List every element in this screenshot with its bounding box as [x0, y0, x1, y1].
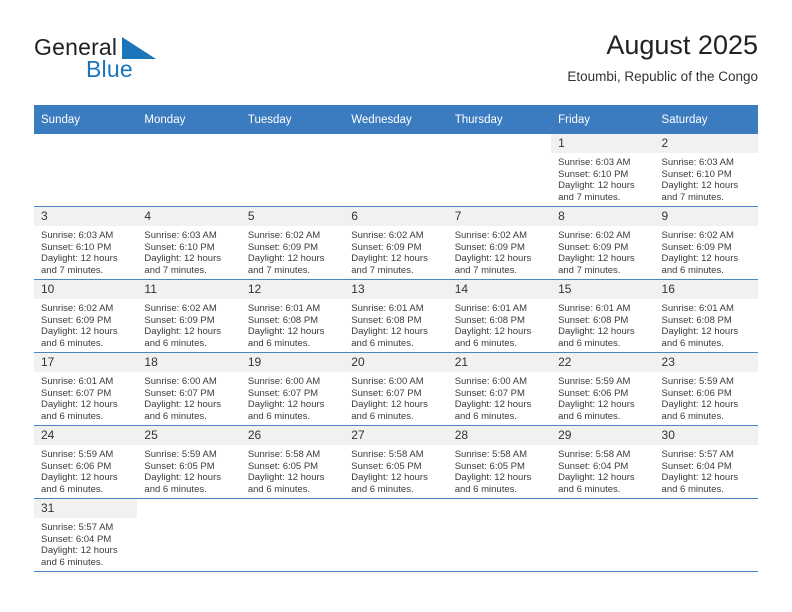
day-number: 28: [448, 426, 551, 445]
day-number: [34, 134, 137, 153]
calendar-cell: [137, 499, 240, 572]
sunrise-text: Sunrise: 6:02 AM: [41, 303, 131, 315]
calendar-cell: [344, 134, 447, 207]
daylight-text: Daylight: 12 hours: [351, 399, 441, 411]
day-number: 5: [241, 207, 344, 226]
calendar-cell: 14Sunrise: 6:01 AMSunset: 6:08 PMDayligh…: [448, 280, 551, 353]
day-details: [137, 153, 240, 157]
daylight-text: and 6 minutes.: [455, 411, 545, 423]
calendar-cell: 18Sunrise: 6:00 AMSunset: 6:07 PMDayligh…: [137, 353, 240, 426]
calendar-day[interactable]: 28Sunrise: 5:58 AMSunset: 6:05 PMDayligh…: [448, 426, 551, 498]
day-number: 13: [344, 280, 447, 299]
sunset-text: Sunset: 6:04 PM: [41, 534, 131, 546]
day-number: 27: [344, 426, 447, 445]
sunrise-text: Sunrise: 6:01 AM: [455, 303, 545, 315]
sunrise-text: Sunrise: 5:59 AM: [144, 449, 234, 461]
daylight-text: Daylight: 12 hours: [558, 399, 648, 411]
sunset-text: Sunset: 6:10 PM: [41, 242, 131, 254]
sunrise-text: Sunrise: 5:57 AM: [662, 449, 752, 461]
calendar-cell: [448, 499, 551, 572]
title-block: August 2025 Etoumbi, Republic of the Con…: [567, 28, 758, 87]
day-details: [241, 518, 344, 522]
sunrise-text: Sunrise: 5:58 AM: [455, 449, 545, 461]
daylight-text: and 6 minutes.: [662, 265, 752, 277]
day-details: [344, 153, 447, 157]
daylight-text: Daylight: 12 hours: [455, 253, 545, 265]
sunset-text: Sunset: 6:07 PM: [144, 388, 234, 400]
calendar-day[interactable]: 10Sunrise: 6:02 AMSunset: 6:09 PMDayligh…: [34, 280, 137, 352]
calendar-cell: 4Sunrise: 6:03 AMSunset: 6:10 PMDaylight…: [137, 207, 240, 280]
day-number: 31: [34, 499, 137, 518]
calendar-table: SundayMondayTuesdayWednesdayThursdayFrid…: [34, 105, 758, 572]
day-details: Sunrise: 6:02 AMSunset: 6:09 PMDaylight:…: [34, 299, 137, 349]
sunrise-text: Sunrise: 6:02 AM: [144, 303, 234, 315]
daylight-text: Daylight: 12 hours: [41, 399, 131, 411]
day-details: Sunrise: 6:00 AMSunset: 6:07 PMDaylight:…: [448, 372, 551, 422]
daylight-text: and 6 minutes.: [144, 484, 234, 496]
day-number: 12: [241, 280, 344, 299]
day-number: 23: [655, 353, 758, 372]
day-number: 11: [137, 280, 240, 299]
day-details: Sunrise: 6:02 AMSunset: 6:09 PMDaylight:…: [344, 226, 447, 276]
day-number: 4: [137, 207, 240, 226]
day-details: Sunrise: 6:01 AMSunset: 6:08 PMDaylight:…: [241, 299, 344, 349]
calendar-cell: 27Sunrise: 5:58 AMSunset: 6:05 PMDayligh…: [344, 426, 447, 499]
daylight-text: Daylight: 12 hours: [351, 472, 441, 484]
calendar-day-empty: [551, 499, 654, 571]
calendar-week-row: 10Sunrise: 6:02 AMSunset: 6:09 PMDayligh…: [34, 280, 758, 353]
day-details: Sunrise: 6:01 AMSunset: 6:08 PMDaylight:…: [551, 299, 654, 349]
daylight-text: and 6 minutes.: [558, 338, 648, 350]
daylight-text: Daylight: 12 hours: [558, 472, 648, 484]
sunrise-text: Sunrise: 6:02 AM: [455, 230, 545, 242]
sunrise-text: Sunrise: 6:03 AM: [662, 157, 752, 169]
weekday-header-saturday: Saturday: [655, 105, 758, 134]
day-number: [448, 499, 551, 518]
sunrise-text: Sunrise: 6:02 AM: [558, 230, 648, 242]
sunrise-text: Sunrise: 5:58 AM: [558, 449, 648, 461]
calendar-day-empty: [137, 499, 240, 571]
sunset-text: Sunset: 6:06 PM: [662, 388, 752, 400]
calendar-day-empty: [241, 499, 344, 571]
calendar-day[interactable]: 15Sunrise: 6:01 AMSunset: 6:08 PMDayligh…: [551, 280, 654, 352]
daylight-text: and 7 minutes.: [248, 265, 338, 277]
sunset-text: Sunset: 6:06 PM: [41, 461, 131, 473]
day-number: 19: [241, 353, 344, 372]
day-details: Sunrise: 6:01 AMSunset: 6:07 PMDaylight:…: [34, 372, 137, 422]
calendar-week-row: 17Sunrise: 6:01 AMSunset: 6:07 PMDayligh…: [34, 353, 758, 426]
day-number: 1: [551, 134, 654, 153]
daylight-text: Daylight: 12 hours: [144, 399, 234, 411]
calendar-day[interactable]: 5Sunrise: 6:02 AMSunset: 6:09 PMDaylight…: [241, 207, 344, 279]
sunset-text: Sunset: 6:09 PM: [144, 315, 234, 327]
calendar-day-empty: [448, 499, 551, 571]
daylight-text: and 7 minutes.: [558, 265, 648, 277]
daylight-text: and 6 minutes.: [41, 484, 131, 496]
sunrise-text: Sunrise: 6:01 AM: [41, 376, 131, 388]
day-details: Sunrise: 5:58 AMSunset: 6:05 PMDaylight:…: [448, 445, 551, 495]
sunrise-text: Sunrise: 6:00 AM: [351, 376, 441, 388]
calendar-day[interactable]: 9Sunrise: 6:02 AMSunset: 6:09 PMDaylight…: [655, 207, 758, 279]
daylight-text: Daylight: 12 hours: [144, 326, 234, 338]
calendar-day[interactable]: 7Sunrise: 6:02 AMSunset: 6:09 PMDaylight…: [448, 207, 551, 279]
daylight-text: and 7 minutes.: [662, 192, 752, 204]
weekday-header-row: SundayMondayTuesdayWednesdayThursdayFrid…: [34, 105, 758, 134]
sunset-text: Sunset: 6:10 PM: [662, 169, 752, 181]
day-number: 16: [655, 280, 758, 299]
sunset-text: Sunset: 6:09 PM: [558, 242, 648, 254]
sunrise-text: Sunrise: 6:01 AM: [662, 303, 752, 315]
calendar-cell: 3Sunrise: 6:03 AMSunset: 6:10 PMDaylight…: [34, 207, 137, 280]
daylight-text: and 6 minutes.: [351, 338, 441, 350]
daylight-text: Daylight: 12 hours: [248, 399, 338, 411]
calendar-cell: 24Sunrise: 5:59 AMSunset: 6:06 PMDayligh…: [34, 426, 137, 499]
calendar-day[interactable]: 12Sunrise: 6:01 AMSunset: 6:08 PMDayligh…: [241, 280, 344, 352]
sunrise-text: Sunrise: 6:00 AM: [144, 376, 234, 388]
daylight-text: and 6 minutes.: [558, 484, 648, 496]
day-details: Sunrise: 5:59 AMSunset: 6:05 PMDaylight:…: [137, 445, 240, 495]
day-details: [655, 518, 758, 522]
calendar-day-empty: [137, 134, 240, 206]
day-number: 24: [34, 426, 137, 445]
day-number: 25: [137, 426, 240, 445]
daylight-text: and 6 minutes.: [41, 557, 131, 569]
calendar-day-empty: [241, 134, 344, 206]
calendar-cell: 1Sunrise: 6:03 AMSunset: 6:10 PMDaylight…: [551, 134, 654, 207]
daylight-text: Daylight: 12 hours: [455, 399, 545, 411]
sunset-text: Sunset: 6:08 PM: [558, 315, 648, 327]
daylight-text: and 7 minutes.: [455, 265, 545, 277]
calendar-week-row: 24Sunrise: 5:59 AMSunset: 6:06 PMDayligh…: [34, 426, 758, 499]
daylight-text: Daylight: 12 hours: [662, 253, 752, 265]
sunset-text: Sunset: 6:04 PM: [662, 461, 752, 473]
calendar-day[interactable]: 22Sunrise: 5:59 AMSunset: 6:06 PMDayligh…: [551, 353, 654, 425]
daylight-text: and 6 minutes.: [455, 484, 545, 496]
sunset-text: Sunset: 6:05 PM: [248, 461, 338, 473]
calendar-cell: [34, 134, 137, 207]
weekday-header-wednesday: Wednesday: [344, 105, 447, 134]
daylight-text: and 6 minutes.: [662, 338, 752, 350]
calendar-day[interactable]: 13Sunrise: 6:01 AMSunset: 6:08 PMDayligh…: [344, 280, 447, 352]
sunrise-text: Sunrise: 6:02 AM: [248, 230, 338, 242]
calendar-cell: 20Sunrise: 6:00 AMSunset: 6:07 PMDayligh…: [344, 353, 447, 426]
day-details: Sunrise: 6:02 AMSunset: 6:09 PMDaylight:…: [655, 226, 758, 276]
calendar-cell: 30Sunrise: 5:57 AMSunset: 6:04 PMDayligh…: [655, 426, 758, 499]
calendar-cell: 29Sunrise: 5:58 AMSunset: 6:04 PMDayligh…: [551, 426, 654, 499]
day-number: 17: [34, 353, 137, 372]
day-number: [344, 134, 447, 153]
calendar-cell: 5Sunrise: 6:02 AMSunset: 6:09 PMDaylight…: [241, 207, 344, 280]
calendar-day[interactable]: 21Sunrise: 6:00 AMSunset: 6:07 PMDayligh…: [448, 353, 551, 425]
calendar-day-empty: [34, 134, 137, 206]
calendar-cell: [551, 499, 654, 572]
sunrise-text: Sunrise: 5:59 AM: [662, 376, 752, 388]
daylight-text: and 6 minutes.: [248, 411, 338, 423]
calendar-day[interactable]: 14Sunrise: 6:01 AMSunset: 6:08 PMDayligh…: [448, 280, 551, 352]
day-details: Sunrise: 6:02 AMSunset: 6:09 PMDaylight:…: [241, 226, 344, 276]
weekday-header-friday: Friday: [551, 105, 654, 134]
sunrise-text: Sunrise: 5:59 AM: [558, 376, 648, 388]
calendar-day[interactable]: 23Sunrise: 5:59 AMSunset: 6:06 PMDayligh…: [655, 353, 758, 425]
day-details: Sunrise: 5:59 AMSunset: 6:06 PMDaylight:…: [34, 445, 137, 495]
day-number: [241, 499, 344, 518]
day-details: [137, 518, 240, 522]
sunset-text: Sunset: 6:05 PM: [144, 461, 234, 473]
daylight-text: Daylight: 12 hours: [248, 326, 338, 338]
calendar-header-row: SundayMondayTuesdayWednesdayThursdayFrid…: [34, 105, 758, 134]
daylight-text: and 6 minutes.: [248, 484, 338, 496]
sunset-text: Sunset: 6:09 PM: [41, 315, 131, 327]
calendar-cell: [137, 134, 240, 207]
day-details: [551, 518, 654, 522]
sunrise-text: Sunrise: 5:58 AM: [248, 449, 338, 461]
day-number: 14: [448, 280, 551, 299]
day-details: Sunrise: 6:02 AMSunset: 6:09 PMDaylight:…: [551, 226, 654, 276]
page-subtitle: Etoumbi, Republic of the Congo: [567, 67, 758, 87]
calendar-cell: 6Sunrise: 6:02 AMSunset: 6:09 PMDaylight…: [344, 207, 447, 280]
calendar-day-empty: [448, 134, 551, 206]
day-details: Sunrise: 6:00 AMSunset: 6:07 PMDaylight:…: [137, 372, 240, 422]
day-number: [137, 499, 240, 518]
sunset-text: Sunset: 6:09 PM: [351, 242, 441, 254]
day-number: [655, 499, 758, 518]
day-details: Sunrise: 6:02 AMSunset: 6:09 PMDaylight:…: [137, 299, 240, 349]
sunset-text: Sunset: 6:04 PM: [558, 461, 648, 473]
day-number: 29: [551, 426, 654, 445]
daylight-text: and 6 minutes.: [455, 338, 545, 350]
calendar-cell: 11Sunrise: 6:02 AMSunset: 6:09 PMDayligh…: [137, 280, 240, 353]
daylight-text: Daylight: 12 hours: [248, 253, 338, 265]
sunset-text: Sunset: 6:07 PM: [41, 388, 131, 400]
day-details: Sunrise: 5:59 AMSunset: 6:06 PMDaylight:…: [551, 372, 654, 422]
calendar-day[interactable]: 1Sunrise: 6:03 AMSunset: 6:10 PMDaylight…: [551, 134, 654, 206]
day-details: Sunrise: 5:58 AMSunset: 6:05 PMDaylight:…: [344, 445, 447, 495]
daylight-text: Daylight: 12 hours: [144, 253, 234, 265]
calendar-cell: 26Sunrise: 5:58 AMSunset: 6:05 PMDayligh…: [241, 426, 344, 499]
day-number: 2: [655, 134, 758, 153]
day-number: 8: [551, 207, 654, 226]
calendar-cell: [448, 134, 551, 207]
day-number: 22: [551, 353, 654, 372]
calendar-day-empty: [344, 499, 447, 571]
sunset-text: Sunset: 6:05 PM: [455, 461, 545, 473]
sunset-text: Sunset: 6:05 PM: [351, 461, 441, 473]
daylight-text: and 6 minutes.: [41, 338, 131, 350]
daylight-text: and 6 minutes.: [144, 338, 234, 350]
day-number: 20: [344, 353, 447, 372]
daylight-text: and 6 minutes.: [144, 411, 234, 423]
calendar-day[interactable]: 27Sunrise: 5:58 AMSunset: 6:05 PMDayligh…: [344, 426, 447, 498]
day-details: Sunrise: 5:57 AMSunset: 6:04 PMDaylight:…: [34, 518, 137, 568]
sunrise-text: Sunrise: 5:59 AM: [41, 449, 131, 461]
sunrise-text: Sunrise: 6:02 AM: [351, 230, 441, 242]
day-details: Sunrise: 6:00 AMSunset: 6:07 PMDaylight:…: [241, 372, 344, 422]
day-number: 9: [655, 207, 758, 226]
page-header: General Blue August 2025 Etoumbi, Republ…: [34, 28, 758, 100]
daylight-text: and 7 minutes.: [351, 265, 441, 277]
page-title: August 2025: [567, 28, 758, 62]
sunrise-text: Sunrise: 6:03 AM: [41, 230, 131, 242]
day-number: 15: [551, 280, 654, 299]
daylight-text: Daylight: 12 hours: [455, 326, 545, 338]
daylight-text: and 6 minutes.: [558, 411, 648, 423]
calendar-cell: [241, 134, 344, 207]
daylight-text: and 7 minutes.: [144, 265, 234, 277]
daylight-text: and 6 minutes.: [351, 484, 441, 496]
sunset-text: Sunset: 6:07 PM: [455, 388, 545, 400]
daylight-text: Daylight: 12 hours: [662, 326, 752, 338]
brand-logo[interactable]: General Blue: [34, 34, 264, 96]
calendar-day[interactable]: 4Sunrise: 6:03 AMSunset: 6:10 PMDaylight…: [137, 207, 240, 279]
sunrise-text: Sunrise: 6:00 AM: [248, 376, 338, 388]
day-number: [137, 134, 240, 153]
calendar-cell: 17Sunrise: 6:01 AMSunset: 6:07 PMDayligh…: [34, 353, 137, 426]
sunrise-text: Sunrise: 5:58 AM: [351, 449, 441, 461]
sunset-text: Sunset: 6:09 PM: [662, 242, 752, 254]
calendar-day[interactable]: 25Sunrise: 5:59 AMSunset: 6:05 PMDayligh…: [137, 426, 240, 498]
calendar-day[interactable]: 3Sunrise: 6:03 AMSunset: 6:10 PMDaylight…: [34, 207, 137, 279]
daylight-text: Daylight: 12 hours: [455, 472, 545, 484]
calendar-week-row: 1Sunrise: 6:03 AMSunset: 6:10 PMDaylight…: [34, 134, 758, 207]
calendar-cell: 25Sunrise: 5:59 AMSunset: 6:05 PMDayligh…: [137, 426, 240, 499]
day-details: Sunrise: 5:59 AMSunset: 6:06 PMDaylight:…: [655, 372, 758, 422]
day-number: 3: [34, 207, 137, 226]
calendar-day[interactable]: 30Sunrise: 5:57 AMSunset: 6:04 PMDayligh…: [655, 426, 758, 498]
calendar-day[interactable]: 20Sunrise: 6:00 AMSunset: 6:07 PMDayligh…: [344, 353, 447, 425]
calendar-cell: 12Sunrise: 6:01 AMSunset: 6:08 PMDayligh…: [241, 280, 344, 353]
day-details: Sunrise: 6:01 AMSunset: 6:08 PMDaylight:…: [655, 299, 758, 349]
calendar-cell: [655, 499, 758, 572]
weekday-header-thursday: Thursday: [448, 105, 551, 134]
calendar-cell: 9Sunrise: 6:02 AMSunset: 6:09 PMDaylight…: [655, 207, 758, 280]
calendar-cell: 15Sunrise: 6:01 AMSunset: 6:08 PMDayligh…: [551, 280, 654, 353]
day-number: 6: [344, 207, 447, 226]
sunset-text: Sunset: 6:09 PM: [248, 242, 338, 254]
daylight-text: and 6 minutes.: [41, 411, 131, 423]
weekday-header-tuesday: Tuesday: [241, 105, 344, 134]
sunset-text: Sunset: 6:08 PM: [455, 315, 545, 327]
sunrise-text: Sunrise: 6:01 AM: [558, 303, 648, 315]
brand-name-blue: Blue: [86, 56, 133, 83]
calendar-day[interactable]: 17Sunrise: 6:01 AMSunset: 6:07 PMDayligh…: [34, 353, 137, 425]
day-details: [344, 518, 447, 522]
calendar-cell: [344, 499, 447, 572]
sunrise-text: Sunrise: 6:03 AM: [558, 157, 648, 169]
daylight-text: and 6 minutes.: [351, 411, 441, 423]
daylight-text: and 7 minutes.: [41, 265, 131, 277]
day-details: [448, 153, 551, 157]
calendar-cell: 21Sunrise: 6:00 AMSunset: 6:07 PMDayligh…: [448, 353, 551, 426]
calendar-cell: 16Sunrise: 6:01 AMSunset: 6:08 PMDayligh…: [655, 280, 758, 353]
day-details: [34, 153, 137, 157]
daylight-text: Daylight: 12 hours: [558, 180, 648, 192]
calendar-day[interactable]: 2Sunrise: 6:03 AMSunset: 6:10 PMDaylight…: [655, 134, 758, 206]
sunset-text: Sunset: 6:08 PM: [662, 315, 752, 327]
sunset-text: Sunset: 6:10 PM: [144, 242, 234, 254]
day-details: Sunrise: 5:58 AMSunset: 6:05 PMDaylight:…: [241, 445, 344, 495]
weekday-header-sunday: Sunday: [34, 105, 137, 134]
day-number: [344, 499, 447, 518]
calendar-cell: 19Sunrise: 6:00 AMSunset: 6:07 PMDayligh…: [241, 353, 344, 426]
calendar-page: General Blue August 2025 Etoumbi, Republ…: [0, 0, 792, 612]
calendar-day[interactable]: 18Sunrise: 6:00 AMSunset: 6:07 PMDayligh…: [137, 353, 240, 425]
day-details: Sunrise: 5:58 AMSunset: 6:04 PMDaylight:…: [551, 445, 654, 495]
sunrise-text: Sunrise: 6:03 AM: [144, 230, 234, 242]
calendar-day[interactable]: 6Sunrise: 6:02 AMSunset: 6:09 PMDaylight…: [344, 207, 447, 279]
day-number: 7: [448, 207, 551, 226]
calendar-day[interactable]: 24Sunrise: 5:59 AMSunset: 6:06 PMDayligh…: [34, 426, 137, 498]
calendar-cell: 2Sunrise: 6:03 AMSunset: 6:10 PMDaylight…: [655, 134, 758, 207]
day-details: Sunrise: 6:01 AMSunset: 6:08 PMDaylight:…: [344, 299, 447, 349]
calendar-cell: 7Sunrise: 6:02 AMSunset: 6:09 PMDaylight…: [448, 207, 551, 280]
day-number: 18: [137, 353, 240, 372]
daylight-text: and 6 minutes.: [248, 338, 338, 350]
sunset-text: Sunset: 6:06 PM: [558, 388, 648, 400]
calendar-cell: 13Sunrise: 6:01 AMSunset: 6:08 PMDayligh…: [344, 280, 447, 353]
calendar-day[interactable]: 31Sunrise: 5:57 AMSunset: 6:04 PMDayligh…: [34, 499, 137, 571]
sunrise-text: Sunrise: 6:02 AM: [662, 230, 752, 242]
day-details: Sunrise: 6:03 AMSunset: 6:10 PMDaylight:…: [655, 153, 758, 203]
daylight-text: and 6 minutes.: [662, 484, 752, 496]
calendar-day[interactable]: 29Sunrise: 5:58 AMSunset: 6:04 PMDayligh…: [551, 426, 654, 498]
calendar-day[interactable]: 8Sunrise: 6:02 AMSunset: 6:09 PMDaylight…: [551, 207, 654, 279]
sunset-text: Sunset: 6:10 PM: [558, 169, 648, 181]
calendar-day[interactable]: 26Sunrise: 5:58 AMSunset: 6:05 PMDayligh…: [241, 426, 344, 498]
day-number: 26: [241, 426, 344, 445]
day-number: [551, 499, 654, 518]
daylight-text: Daylight: 12 hours: [41, 545, 131, 557]
day-details: Sunrise: 6:03 AMSunset: 6:10 PMDaylight:…: [551, 153, 654, 203]
day-details: Sunrise: 5:57 AMSunset: 6:04 PMDaylight:…: [655, 445, 758, 495]
daylight-text: Daylight: 12 hours: [144, 472, 234, 484]
daylight-text: Daylight: 12 hours: [248, 472, 338, 484]
calendar-cell: [241, 499, 344, 572]
sunrise-text: Sunrise: 6:00 AM: [455, 376, 545, 388]
calendar-day[interactable]: 11Sunrise: 6:02 AMSunset: 6:09 PMDayligh…: [137, 280, 240, 352]
calendar-cell: 8Sunrise: 6:02 AMSunset: 6:09 PMDaylight…: [551, 207, 654, 280]
sunset-text: Sunset: 6:07 PM: [351, 388, 441, 400]
day-details: [448, 518, 551, 522]
day-details: Sunrise: 6:02 AMSunset: 6:09 PMDaylight:…: [448, 226, 551, 276]
calendar-cell: 10Sunrise: 6:02 AMSunset: 6:09 PMDayligh…: [34, 280, 137, 353]
daylight-text: Daylight: 12 hours: [351, 326, 441, 338]
daylight-text: Daylight: 12 hours: [662, 399, 752, 411]
sunrise-text: Sunrise: 5:57 AM: [41, 522, 131, 534]
daylight-text: Daylight: 12 hours: [558, 253, 648, 265]
day-number: [448, 134, 551, 153]
calendar-body: 1Sunrise: 6:03 AMSunset: 6:10 PMDaylight…: [34, 134, 758, 572]
calendar-day[interactable]: 16Sunrise: 6:01 AMSunset: 6:08 PMDayligh…: [655, 280, 758, 352]
sunset-text: Sunset: 6:08 PM: [351, 315, 441, 327]
daylight-text: Daylight: 12 hours: [351, 253, 441, 265]
calendar-cell: 23Sunrise: 5:59 AMSunset: 6:06 PMDayligh…: [655, 353, 758, 426]
calendar-day[interactable]: 19Sunrise: 6:00 AMSunset: 6:07 PMDayligh…: [241, 353, 344, 425]
calendar-day-empty: [655, 499, 758, 571]
daylight-text: and 7 minutes.: [558, 192, 648, 204]
sunset-text: Sunset: 6:09 PM: [455, 242, 545, 254]
day-details: Sunrise: 6:01 AMSunset: 6:08 PMDaylight:…: [448, 299, 551, 349]
sunrise-text: Sunrise: 6:01 AM: [248, 303, 338, 315]
day-number: 21: [448, 353, 551, 372]
day-number: 10: [34, 280, 137, 299]
calendar-cell: 28Sunrise: 5:58 AMSunset: 6:05 PMDayligh…: [448, 426, 551, 499]
day-details: Sunrise: 6:03 AMSunset: 6:10 PMDaylight:…: [137, 226, 240, 276]
daylight-text: Daylight: 12 hours: [558, 326, 648, 338]
sunrise-text: Sunrise: 6:01 AM: [351, 303, 441, 315]
day-details: Sunrise: 6:03 AMSunset: 6:10 PMDaylight:…: [34, 226, 137, 276]
day-details: [241, 153, 344, 157]
daylight-text: Daylight: 12 hours: [41, 253, 131, 265]
